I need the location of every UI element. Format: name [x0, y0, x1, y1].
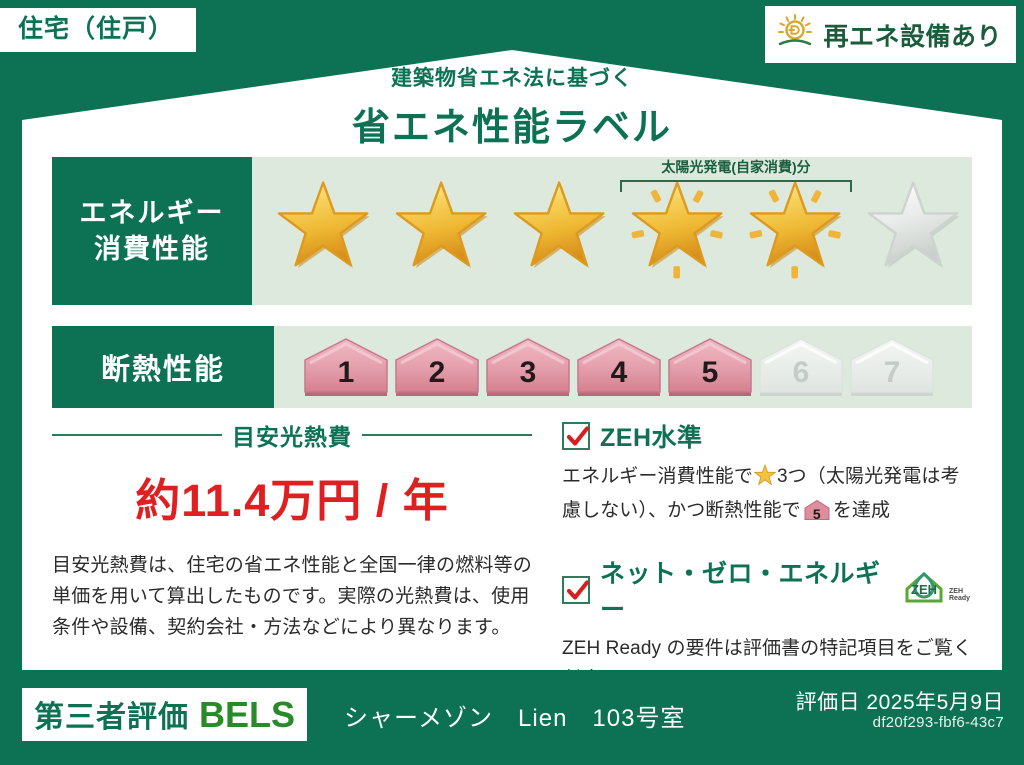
utility-cost-heading: 目安光熱費 [52, 418, 532, 452]
insulation-level-empty: 6 [757, 336, 845, 398]
inline-house-level: 5 [804, 503, 830, 525]
criterion-net-zero-head: ネット・ゼロ・エネルギー ZEH ZEH Ready [562, 554, 976, 626]
insulation-level-filled: 2 [393, 336, 481, 398]
footer-bar: 第三者評価 BELS シャーメゾン Lien 103号室 評価日 2025年5月… [0, 670, 1024, 765]
insulation-level-number: 3 [484, 358, 572, 388]
criterion-zeh-standard-head: ZEH水準 [562, 418, 976, 454]
insulation-row-label: 断熱性能 [52, 326, 274, 408]
insulation-performance-row: 断熱性能 1 [52, 326, 972, 408]
rule-left [52, 434, 222, 436]
insulation-level-number: 2 [393, 358, 481, 388]
zeh-standard-checkbox[interactable] [562, 422, 590, 450]
zeh-standard-title: ZEH水準 [600, 418, 703, 454]
utility-cost-note: 目安光熱費は、住宅の省エネ性能と全国一律の燃料等の単価を用いて算出したものです。… [52, 551, 532, 643]
evaluation-date: 評価日 2025年5月9日 [796, 686, 1004, 716]
utility-cost-block: 目安光熱費 約11.4万円 / 年 目安光熱費は、住宅の省エネ性能と全国一律の燃… [52, 418, 532, 643]
star-filled [624, 175, 736, 287]
criterion-zeh-standard: ZEH水準 エネルギー消費性能で 3つ（太陽光発電は考慮しない）、かつ断熱性能で… [562, 418, 976, 532]
net-zero-checkbox[interactable] [562, 576, 590, 604]
bels-jp-label: 第三者評価 [34, 692, 189, 736]
solar-annotation-label: 太陽光発電(自家消費)分 [620, 157, 852, 177]
insulation-level-number: 1 [302, 358, 390, 388]
rule-right [362, 434, 532, 436]
renewable-energy-badge: 再エネ設備あり [765, 6, 1016, 63]
energy-label-poster: 住宅（住戸） 再エネ設備あり 建 [0, 0, 1024, 765]
energy-label-line2: 消費性能 [94, 231, 210, 267]
solar-sun-icon [775, 12, 815, 57]
zeh-ready-logo: ZEH ZEH Ready [902, 567, 976, 612]
zeh-standard-body-part3: を達成 [833, 500, 890, 521]
property-name: シャーメゾン Lien 103号室 [344, 698, 685, 733]
energy-label-line1: エネルギー [80, 195, 225, 231]
star-rating [252, 175, 972, 287]
star-filled [742, 175, 854, 287]
svg-text:Ready: Ready [949, 595, 970, 602]
energy-performance-row: エネルギー 消費性能 [52, 157, 972, 305]
inline-star-icon [754, 464, 776, 496]
insulation-level-scale: 1 2 [274, 336, 936, 398]
star-filled [270, 175, 382, 287]
insulation-level-filled: 4 [575, 336, 663, 398]
energy-row-body: 太陽光発電(自家消費)分 [252, 157, 972, 305]
building-type-tag: 住宅（住戸） [0, 8, 196, 52]
insulation-level-filled: 3 [484, 336, 572, 398]
insulation-label-text: 断熱性能 [101, 346, 225, 388]
criteria-block: ZEH水準 エネルギー消費性能で 3つ（太陽光発電は考慮しない）、かつ断熱性能で… [562, 418, 976, 695]
insulation-level-filled: 5 [666, 336, 754, 398]
zeh-standard-body-part1: エネルギー消費性能で [562, 466, 753, 487]
bels-logo: 第三者評価 BELS [22, 688, 307, 741]
svg-text:ZEH: ZEH [911, 582, 937, 597]
star-filled [388, 175, 500, 287]
zeh-standard-body: エネルギー消費性能で 3つ（太陽光発電は考慮しない）、かつ断熱性能で 5を達成 [562, 462, 976, 532]
insulation-level-filled: 1 [302, 336, 390, 398]
insulation-level-number: 5 [666, 358, 754, 388]
insulation-level-number: 7 [848, 358, 936, 388]
insulation-level-number: 6 [757, 358, 845, 388]
star-filled [506, 175, 618, 287]
energy-row-label: エネルギー 消費性能 [52, 157, 252, 305]
insulation-level-number: 4 [575, 358, 663, 388]
star-empty [860, 175, 972, 287]
renewable-badge-label: 再エネ設備あり [823, 17, 1002, 53]
insulation-level-empty: 7 [848, 336, 936, 398]
insulation-row-body: 1 2 [274, 326, 972, 408]
bels-en-label: BELS [199, 694, 295, 736]
inline-house-badge: 5 [804, 499, 830, 531]
svg-text:ZEH: ZEH [949, 588, 963, 595]
net-zero-title: ネット・ゼロ・エネルギー [600, 554, 886, 626]
utility-cost-title: 目安光熱費 [232, 418, 352, 452]
evaluation-id: df20f293-fbf6-43c7 [873, 714, 1004, 731]
utility-cost-value: 約11.4万円 / 年 [52, 464, 532, 529]
